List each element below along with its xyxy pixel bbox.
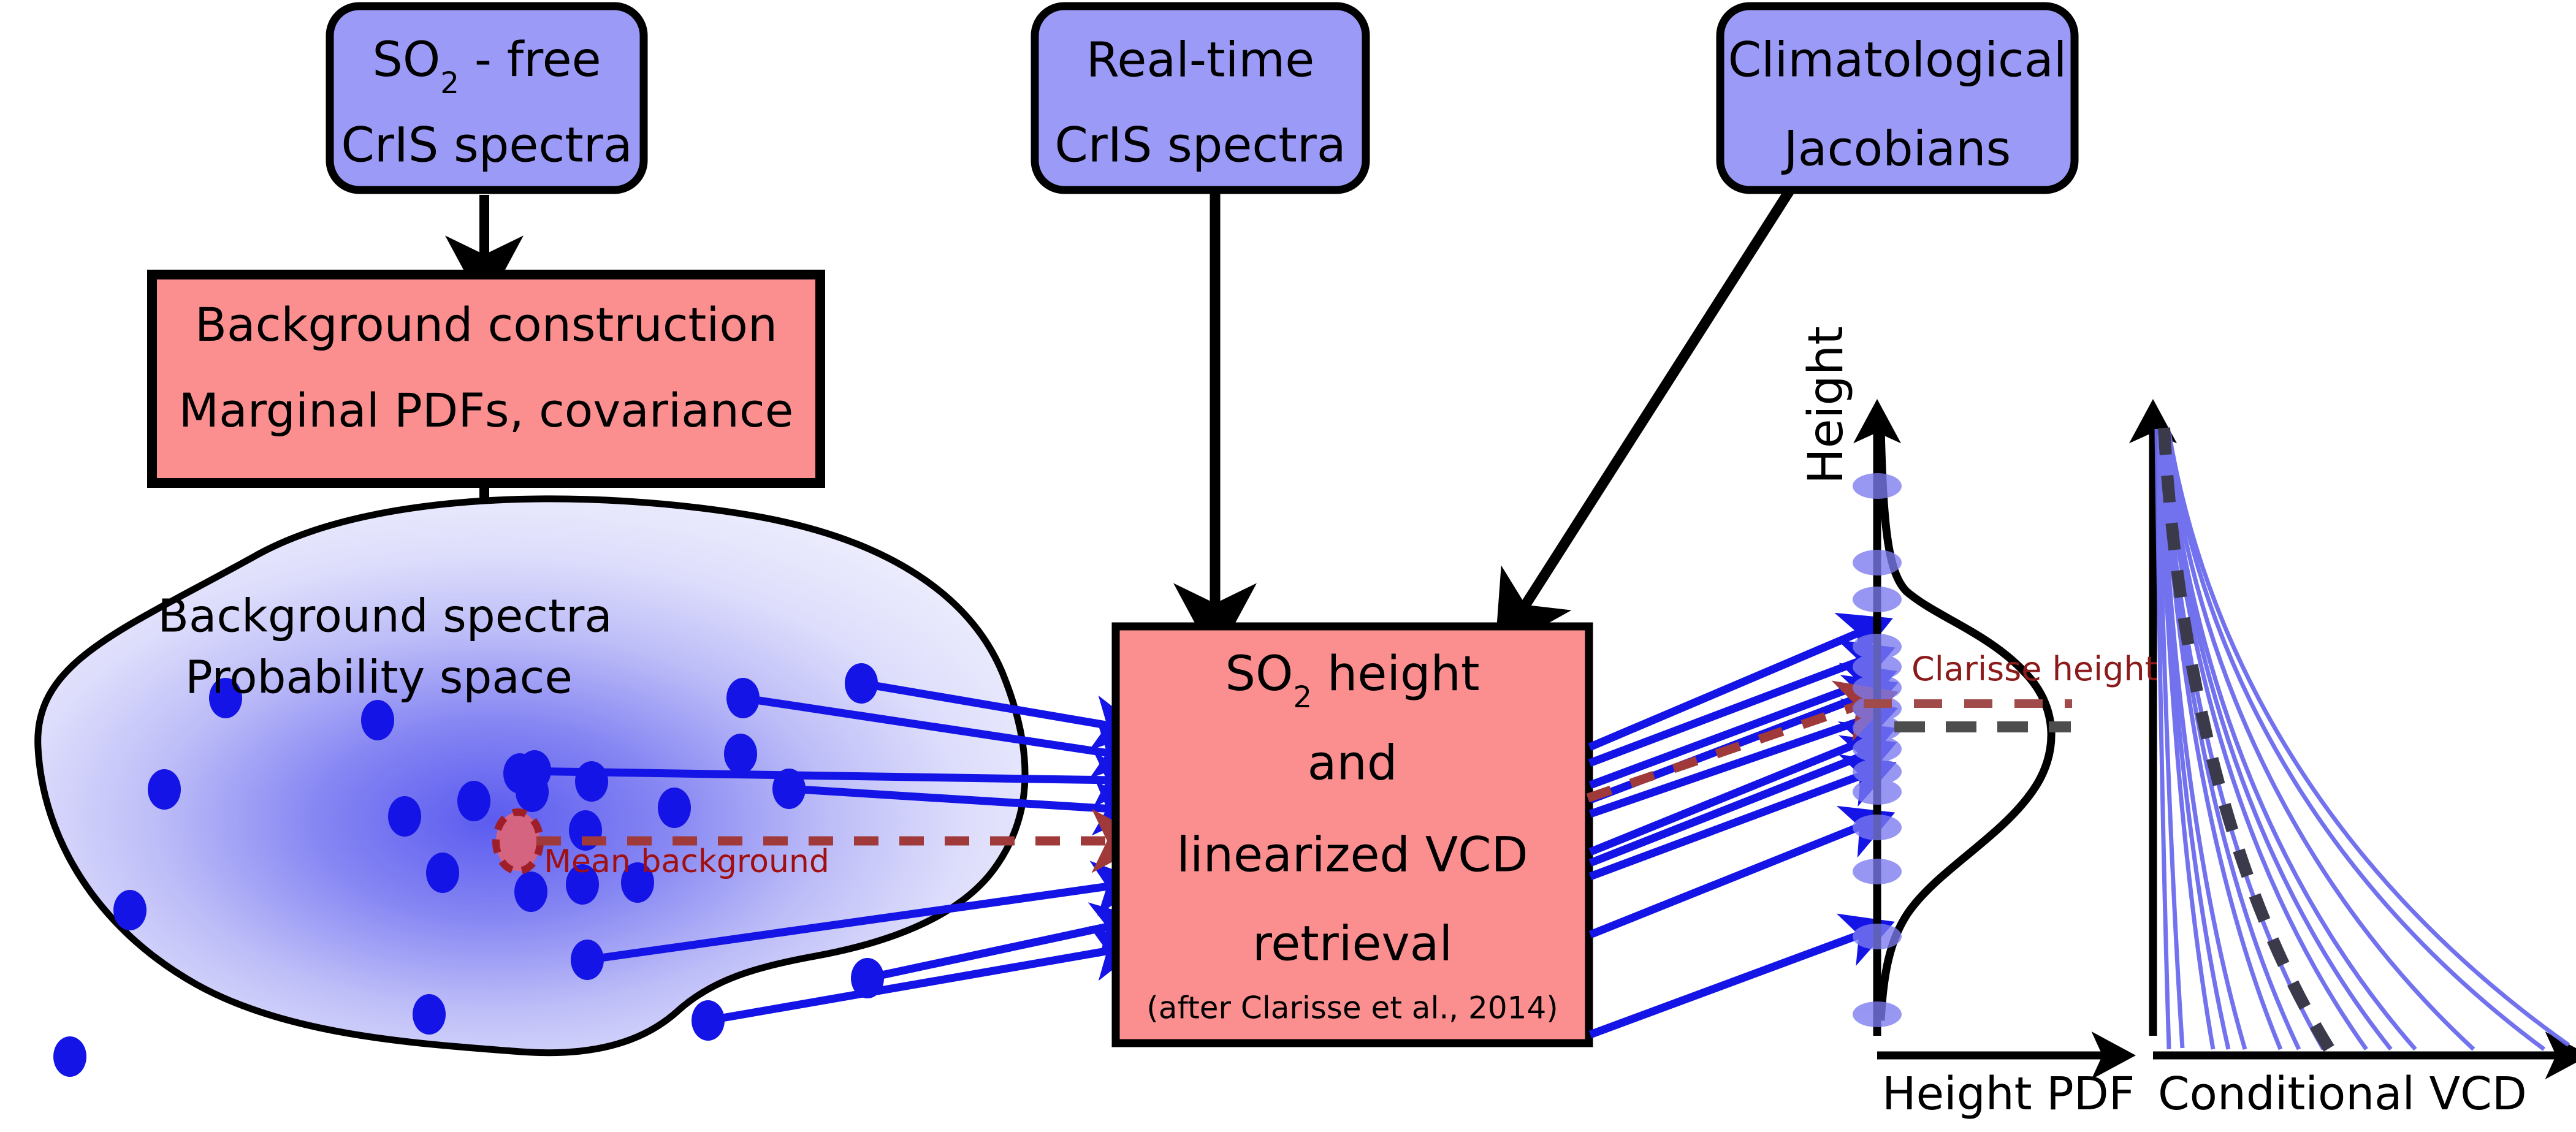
connector-jacobians-to-retrieval [1520, 190, 1790, 613]
so2-free-spectra-line2: CrIS spectra [341, 118, 632, 173]
sample-dot [388, 796, 421, 837]
height-pdf-axis-label: Height PDF [1882, 1068, 2135, 1120]
pdf-dot [1853, 859, 1902, 884]
pdf-dot [1853, 815, 1902, 840]
climatological-jacobians-line2: Jacobians [1781, 121, 2011, 177]
retrieval-arrow [1590, 824, 1865, 935]
sample-dot [724, 734, 757, 774]
retrieval-to-heightpdf-arrows [1590, 631, 1869, 1035]
background-construction-line1: Background construction [195, 297, 777, 352]
climatological-jacobians-line1: Climatological [1728, 32, 2067, 88]
mean-background-label: Mean background [544, 843, 829, 880]
diagram-canvas: SO2 - free CrIS spectra Real-time CrIS s… [0, 0, 2576, 1132]
retrieval-line4: retrieval [1252, 916, 1452, 971]
pdf-dot [1853, 736, 1902, 762]
vcd-curve [2166, 430, 2474, 1049]
background-construction-line2: Marginal PDFs, covariance [179, 383, 794, 438]
height-axis-label: Height [1799, 326, 1854, 484]
retrieval-arrow [1590, 933, 1865, 1035]
pdf-dot [1853, 779, 1902, 805]
flowchart-svg: SO2 - free CrIS spectra Real-time CrIS s… [0, 0, 2576, 1132]
pdf-dot [1853, 550, 1902, 575]
probability-space-line1: Background spectra [158, 590, 612, 643]
sample-dot [575, 761, 608, 802]
sample-dot [148, 769, 181, 810]
retrieval-arrow [1590, 631, 1864, 747]
sample-dot [457, 781, 490, 821]
retrieval-citation: (after Clarisse et al., 2014) [1146, 990, 1558, 1026]
height-pdf-sample-dots [1853, 473, 1902, 1027]
retrieval-arrow [1590, 773, 1867, 876]
height-pdf-plot [1853, 423, 2112, 1055]
sample-dot [53, 1036, 86, 1077]
pdf-dot [1853, 587, 1902, 612]
pdf-dot [1853, 1001, 1902, 1027]
sample-dot [514, 872, 547, 912]
sample-dot [658, 788, 691, 828]
vcd-curve [2168, 431, 2544, 1049]
realtime-spectra-line1: Real-time [1086, 32, 1315, 88]
vcd-curve-family [2157, 429, 2569, 1049]
probability-space-line2: Probability space [185, 651, 573, 704]
sample-dot [361, 700, 394, 740]
clarisse-height-label: Clarisse height [1911, 650, 2158, 688]
sample-dot [426, 853, 459, 893]
sample-dot [113, 890, 147, 930]
conditional-vcd-plot [2153, 423, 2569, 1055]
conditional-vcd-axis-label: Conditional VCD [2158, 1068, 2527, 1120]
pdf-dot [1853, 473, 1902, 499]
mean-background-dot [496, 812, 540, 871]
realtime-spectra-line2: CrIS spectra [1054, 118, 1346, 173]
sample-dot [413, 994, 446, 1035]
pdf-dot [1853, 924, 1902, 949]
retrieval-line2: and [1308, 735, 1398, 791]
retrieval-line3: linearized VCD [1176, 827, 1528, 883]
